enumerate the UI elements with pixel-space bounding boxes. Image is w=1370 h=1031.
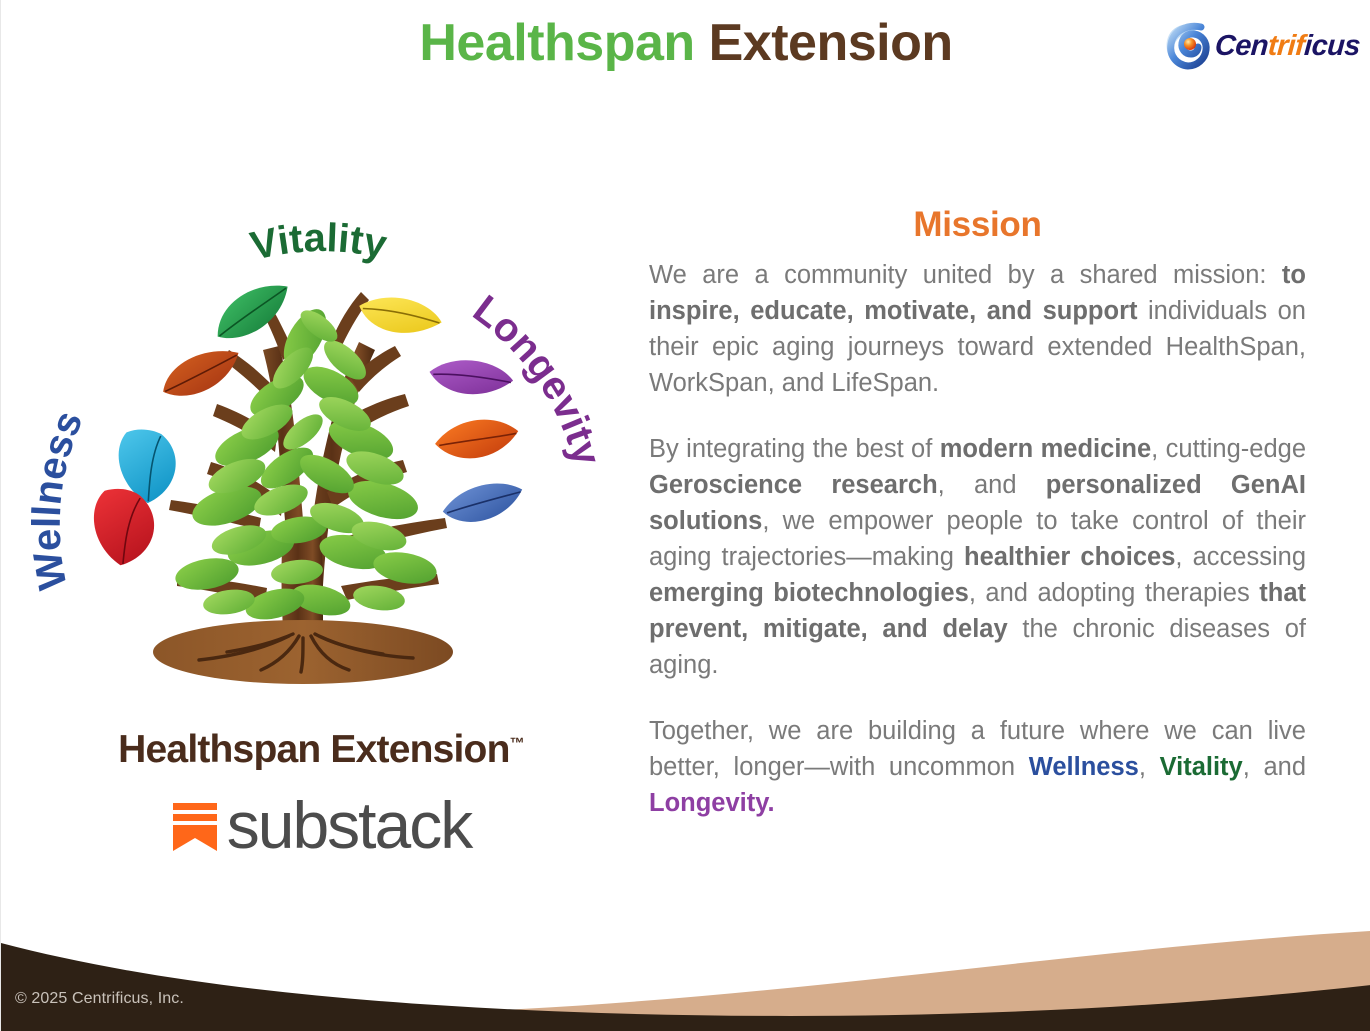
brand-text-2: trif bbox=[1267, 30, 1306, 62]
p3-tail: . bbox=[768, 789, 775, 817]
healthspan-extension-logo: Wellness Vitality Longevity Healthspan E… bbox=[31, 200, 611, 900]
footer-wave-decoration bbox=[1, 901, 1370, 1031]
footer-copyright: © 2025 Centrificus, Inc. bbox=[15, 990, 184, 1008]
p2-mid-4: , accessing bbox=[1175, 543, 1306, 571]
p2-mid-1: , cutting-edge bbox=[1151, 435, 1306, 463]
p2-bold-1: modern medicine bbox=[940, 435, 1151, 463]
p2-mid-2: , and bbox=[938, 471, 1046, 499]
tree-arc-label-wellness: Wellness bbox=[31, 405, 91, 593]
centrificus-logo[interactable]: Centrificus bbox=[1163, 18, 1355, 74]
p3-sep-2: , and bbox=[1243, 753, 1306, 781]
p2-mid-5: , and adopting therapies bbox=[969, 579, 1259, 607]
page-title-part-green: Healthspan bbox=[419, 14, 708, 72]
brand-text-1: Cen bbox=[1214, 30, 1269, 62]
p2-bold-4: healthier choices bbox=[964, 543, 1175, 571]
trademark-symbol: ™ bbox=[510, 735, 524, 752]
p2-lead: By integrating the best of bbox=[649, 435, 940, 463]
p3-word-wellness: Wellness bbox=[1029, 753, 1139, 781]
page-title-part-brown: Extension bbox=[709, 14, 953, 72]
substack-logo[interactable]: substack bbox=[31, 792, 611, 858]
logo-wordmark: Healthspan Extension™ bbox=[31, 728, 611, 772]
p1-lead: We are a community united by a shared mi… bbox=[649, 261, 1282, 289]
mission-paragraph-3: Together, we are building a future where… bbox=[649, 713, 1306, 821]
tree-illustration: Wellness Vitality Longevity bbox=[31, 200, 611, 760]
p3-word-longevity: Longevity bbox=[649, 789, 768, 817]
centrificus-wordmark: Centrificus bbox=[1214, 30, 1361, 63]
logo-wordmark-text: Healthspan Extension bbox=[118, 728, 509, 771]
substack-bookmark-icon bbox=[171, 797, 219, 853]
p3-sep-1: , bbox=[1139, 753, 1160, 781]
mission-heading: Mission bbox=[649, 205, 1306, 245]
mission-paragraph-1: We are a community united by a shared mi… bbox=[649, 257, 1306, 401]
slide-canvas: Healthspan Extension bbox=[0, 0, 1370, 1031]
p2-bold-2: Geroscience research bbox=[649, 471, 938, 499]
mission-section: Mission We are a community united by a s… bbox=[649, 205, 1306, 821]
tree-mound bbox=[153, 620, 453, 684]
centrificus-swirl-icon bbox=[1163, 21, 1213, 71]
p2-bold-5: emerging biotechnologies bbox=[649, 579, 969, 607]
mission-paragraph-2: By integrating the best of modern medici… bbox=[649, 431, 1306, 683]
substack-wordmark: substack bbox=[227, 792, 471, 858]
tree-arc-label-vitality: Vitality bbox=[247, 216, 392, 269]
p3-word-vitality: Vitality bbox=[1160, 753, 1243, 781]
brand-text-3: icus bbox=[1303, 30, 1361, 62]
